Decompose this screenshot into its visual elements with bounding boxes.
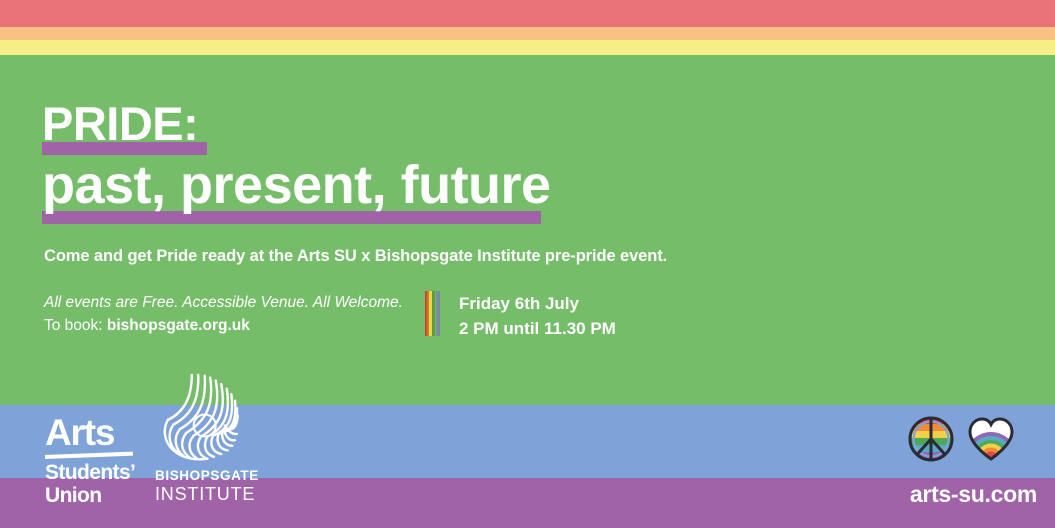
striped-divider: [425, 291, 440, 336]
event-time: 2 PM until 11.30 PM: [459, 316, 616, 341]
page-subtitle: past, present, future: [42, 154, 551, 216]
accessibility-note: All events are Free. Accessible Venue. A…: [44, 291, 403, 314]
bishopsgate-institute-word: INSTITUTE: [155, 484, 247, 504]
rainbow-heart-icon: [966, 414, 1016, 464]
event-date: Friday 6th July: [459, 291, 616, 316]
pride-icon-group: [906, 414, 1016, 464]
arts-su-union-line: Union: [45, 484, 145, 507]
stripe-red: [0, 0, 1055, 27]
pride-event-poster: PRIDE: past, present, future Come and ge…: [0, 0, 1055, 528]
event-description: Come and get Pride ready at the Arts SU …: [44, 247, 667, 266]
arts-su-students-line: Students’: [45, 461, 145, 484]
booking-label: To book:: [44, 317, 107, 334]
bishopsgate-name: BISHOPSGATE: [155, 468, 247, 484]
arts-su-logo: Arts Students’ Union: [45, 414, 145, 507]
stripe-yellow: [0, 40, 1055, 55]
booking-line: To book: bishopsgate.org.uk: [44, 314, 403, 337]
bishopsgate-logo: BISHOPSGATE INSTITUTE: [155, 372, 247, 504]
event-details-left: All events are Free. Accessible Venue. A…: [44, 291, 403, 337]
divider-stripe-blue: [436, 291, 440, 336]
rainbow-peace-icon: [906, 414, 956, 464]
event-details-right: Friday 6th July 2 PM until 11.30 PM: [459, 291, 616, 341]
website-url[interactable]: arts-su.com: [910, 481, 1037, 508]
stripe-orange: [0, 27, 1055, 40]
page-title: PRIDE:: [42, 96, 198, 152]
arts-su-wordmark: Arts: [45, 414, 145, 452]
spiral-icon: [155, 372, 247, 468]
booking-url-link[interactable]: bishopsgate.org.uk: [107, 317, 250, 334]
